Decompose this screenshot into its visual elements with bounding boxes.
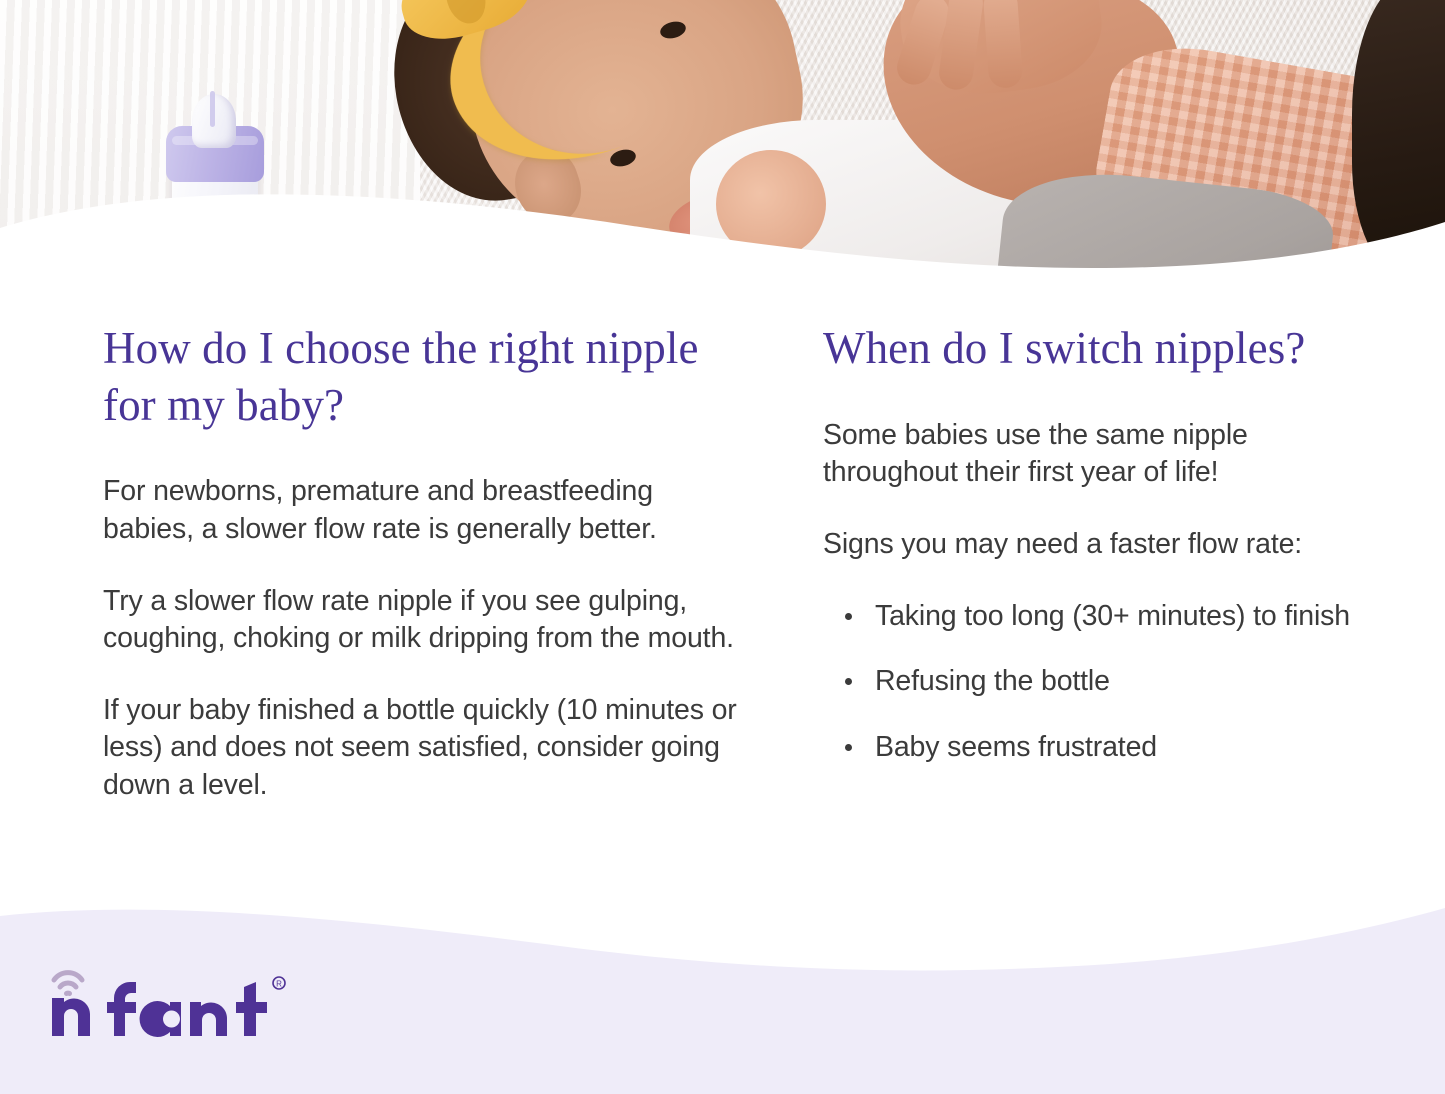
list-item: Taking too long (30+ minutes) to finish — [823, 598, 1383, 636]
paragraph-finished-quickly: If your baby finished a bottle quickly (… — [103, 692, 743, 805]
nfant-logo[interactable]: R — [48, 958, 308, 1038]
column-choose-nipple: How do I choose the right nipple for my … — [103, 320, 743, 805]
bottle-nipple — [192, 94, 236, 148]
svg-text:R: R — [276, 980, 282, 989]
heading-switch-nipples: When do I switch nipples? — [823, 320, 1383, 377]
list-item-label: Baby seems frustrated — [875, 731, 1157, 763]
paragraph-newborns: For newborns, premature and breastfeedin… — [103, 473, 743, 548]
hero-photograph — [0, 0, 1445, 300]
bottle-label — [204, 278, 238, 300]
list-item: Baby seems frustrated — [823, 729, 1383, 767]
list-item-label: Taking too long (30+ minutes) to finish — [875, 600, 1350, 632]
caregiver-hair — [1352, 0, 1445, 276]
bullet-dot-icon — [845, 678, 852, 685]
baby-bottle — [152, 90, 270, 300]
paragraph-slower-flow: Try a slower flow rate nipple if you see… — [103, 583, 743, 658]
list-item-label: Refusing the bottle — [875, 665, 1110, 697]
column-switch-nipples: When do I switch nipples? Some babies us… — [823, 320, 1383, 766]
signs-list: Taking too long (30+ minutes) to finish … — [823, 598, 1383, 767]
bullet-dot-icon — [845, 744, 852, 751]
list-item: Refusing the bottle — [823, 663, 1383, 701]
caregiver-finger — [983, 0, 1024, 89]
paragraph-same-nipple: Some babies use the same nipple througho… — [823, 417, 1383, 492]
registered-trademark-icon: R — [273, 977, 285, 989]
wifi-arcs-icon — [54, 973, 82, 994]
nfant-wordmark — [52, 982, 267, 1037]
paragraph-signs-intro: Signs you may need a faster flow rate: — [823, 526, 1383, 564]
nfant-logo-mark[interactable]: R — [48, 958, 308, 1038]
hero-image — [0, 0, 1445, 300]
baby-hand — [716, 150, 826, 258]
bullet-dot-icon — [845, 613, 852, 620]
heading-choose-nipple: How do I choose the right nipple for my … — [103, 320, 743, 433]
